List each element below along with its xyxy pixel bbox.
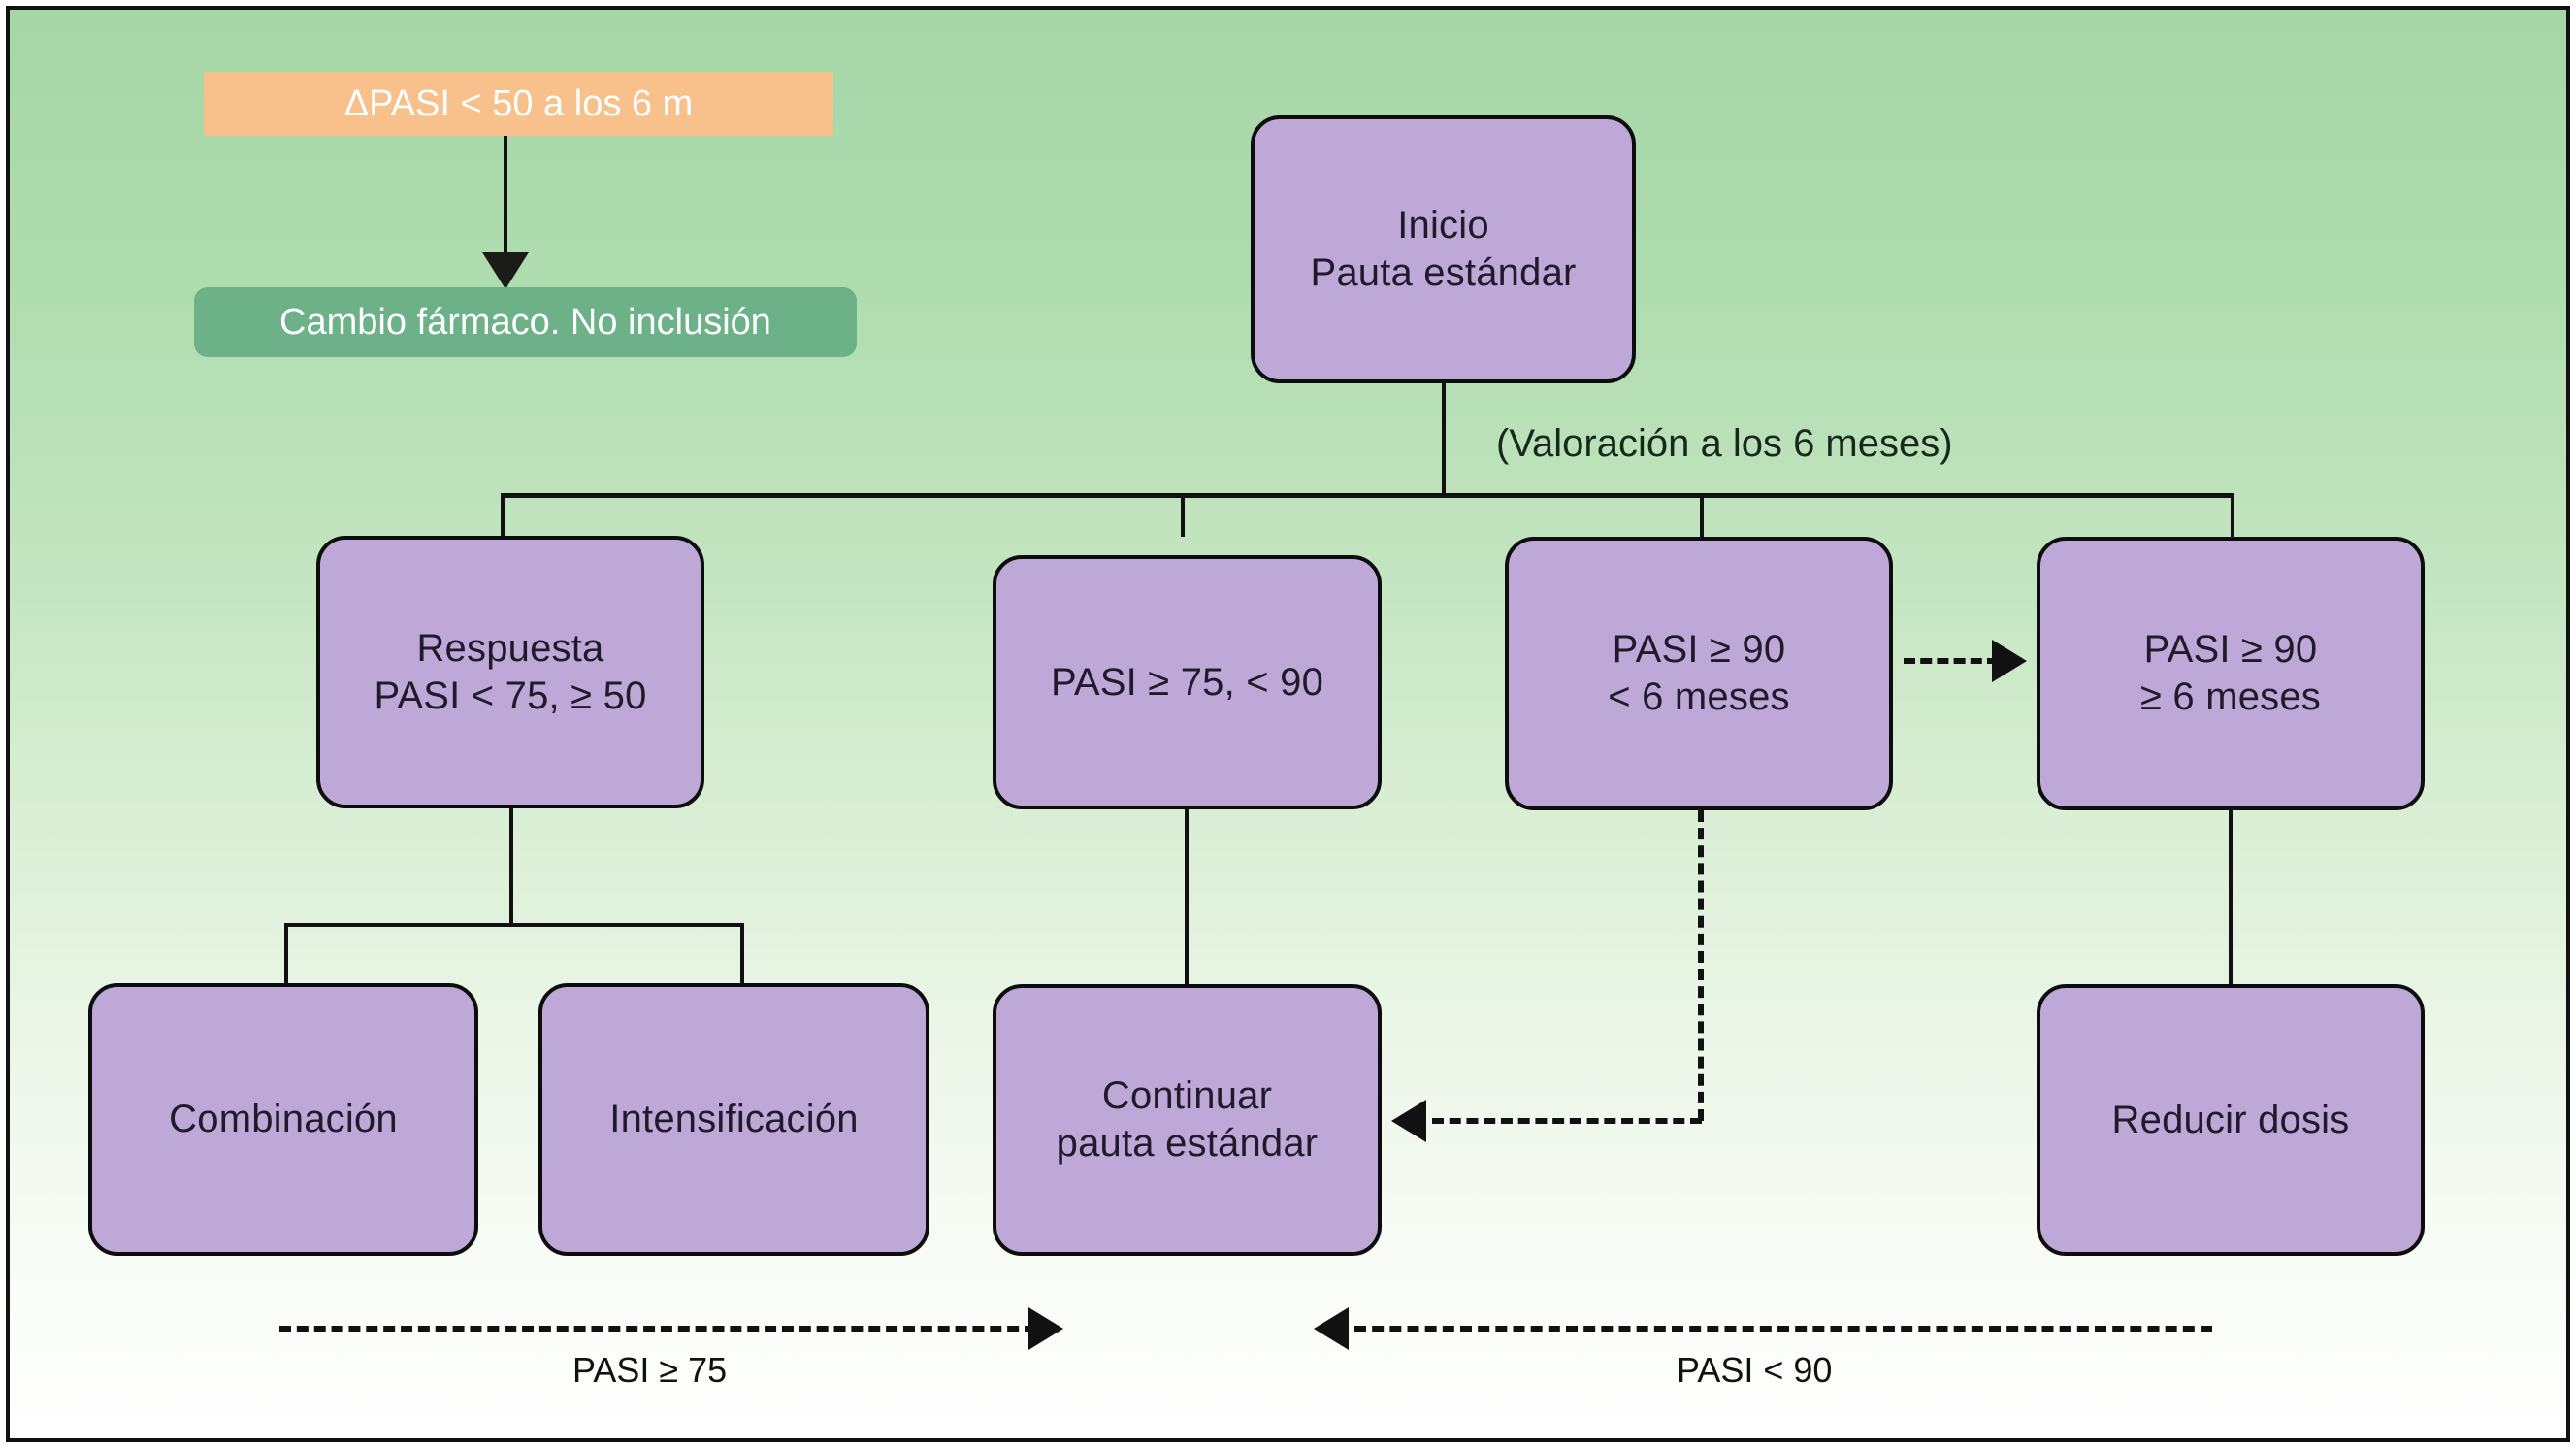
- node-intensificacion: Intensificación: [538, 983, 929, 1256]
- node-respuesta: Respuesta PASI < 75, ≥ 50: [316, 536, 704, 808]
- node-inicio: Inicio Pauta estándar: [1251, 115, 1636, 383]
- connector-pasi90lt6-down-dashed: [1698, 810, 1704, 1121]
- arrow-right-icon-2: [1028, 1307, 1063, 1350]
- connector-drop-pasi90lt6: [1700, 493, 1704, 537]
- connector-drop-pasi7590: [1181, 493, 1185, 537]
- node-pasi-90-lt-6-meses: PASI ≥ 90 < 6 meses: [1505, 537, 1893, 810]
- node-reducir-dosis: Reducir dosis: [2037, 984, 2425, 1256]
- node-continuar-pauta: Continuar pauta estándar: [993, 984, 1382, 1256]
- connector-respuesta-stem: [509, 808, 513, 925]
- node-pasi-75-90: PASI ≥ 75, < 90: [993, 555, 1382, 809]
- connector-delta-to-cambio: [504, 136, 507, 259]
- connector-respuesta-bar: [284, 923, 744, 927]
- node-pasi-90-ge-6-meses: PASI ≥ 90 ≥ 6 meses: [2037, 537, 2425, 810]
- connector-feedback-pasi-lt-90: [1354, 1326, 2212, 1332]
- arrow-left-icon-2: [1314, 1307, 1349, 1350]
- label-pasi-lt-90: PASI < 90: [1677, 1350, 1832, 1391]
- connector-pasi90-transition: [1904, 658, 1999, 664]
- connector-pasi90lt6-left-dashed: [1432, 1118, 1702, 1124]
- label-valoracion: (Valoración a los 6 meses): [1496, 422, 1953, 466]
- connector-pasi7590-to-continuar: [1185, 809, 1189, 986]
- connector-drop-respuesta: [501, 493, 505, 537]
- diagram-canvas: ΔPASI < 50 a los 6 m Cambio fármaco. No …: [0, 0, 2576, 1448]
- connector-drop-pasi90ge6: [2231, 493, 2234, 537]
- connector-branch-bar: [501, 493, 2234, 498]
- node-combinacion: Combinación: [88, 983, 478, 1256]
- label-pasi-ge-75: PASI ≥ 75: [572, 1350, 727, 1391]
- arrow-down-icon: [482, 252, 529, 289]
- banner-cambio-farmaco: Cambio fármaco. No inclusión: [194, 287, 857, 357]
- banner-delta-pasi: ΔPASI < 50 a los 6 m: [204, 72, 833, 136]
- connector-feedback-pasi-ge-75: [279, 1326, 1036, 1332]
- connector-inicio-trunk: [1442, 383, 1446, 495]
- arrow-left-icon: [1391, 1100, 1426, 1142]
- diagram-frame: ΔPASI < 50 a los 6 m Cambio fármaco. No …: [6, 6, 2570, 1442]
- arrow-right-icon: [1992, 640, 2027, 682]
- connector-pasi90ge6-to-reducir: [2229, 810, 2233, 986]
